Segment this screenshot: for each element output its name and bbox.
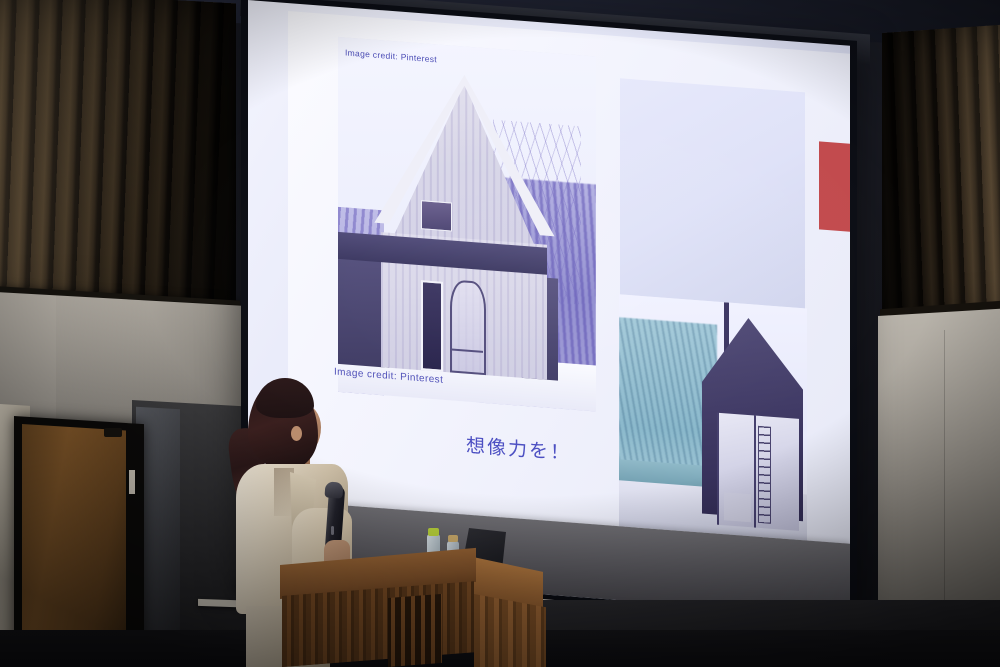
microphone-switch[interactable] bbox=[331, 526, 334, 535]
slide-headline: 想像力を！ bbox=[466, 431, 571, 466]
cabin-interior-ladder bbox=[758, 425, 771, 523]
presentation-photo-scene: Image credit: Pinterest Image credit: Pi… bbox=[0, 0, 1000, 667]
photo-cabin bbox=[374, 68, 555, 380]
microphone-capsule bbox=[324, 481, 343, 498]
slide-image-tall-dark-gable-cabin bbox=[619, 294, 807, 540]
lectern-fluted-detail bbox=[388, 594, 442, 667]
door-closer-icon bbox=[104, 428, 122, 437]
water-bottle-cap bbox=[428, 528, 439, 536]
door-strike-plate bbox=[129, 470, 135, 494]
cabin-arched-window bbox=[450, 279, 486, 374]
cabin-interior-furniture bbox=[724, 492, 750, 522]
slide-accent-rectangle bbox=[819, 141, 850, 232]
cabin-glass-mullion bbox=[754, 416, 756, 528]
slide-image-gabled-cabin-in-snow bbox=[338, 37, 596, 412]
water-bottle-cap bbox=[448, 535, 458, 542]
wood-slat-wall-left bbox=[0, 0, 236, 326]
lectern-side-panel bbox=[474, 594, 546, 667]
slide-canvas: Image credit: Pinterest Image credit: Pi… bbox=[288, 11, 850, 546]
presenter-hair-crown bbox=[256, 378, 314, 418]
presenter-ear bbox=[291, 426, 302, 441]
cabin-entry-door bbox=[421, 280, 443, 371]
lectern-front-panel bbox=[282, 581, 474, 667]
cabin-loft-window bbox=[421, 200, 452, 232]
wood-slat-wall-right bbox=[882, 24, 1000, 329]
